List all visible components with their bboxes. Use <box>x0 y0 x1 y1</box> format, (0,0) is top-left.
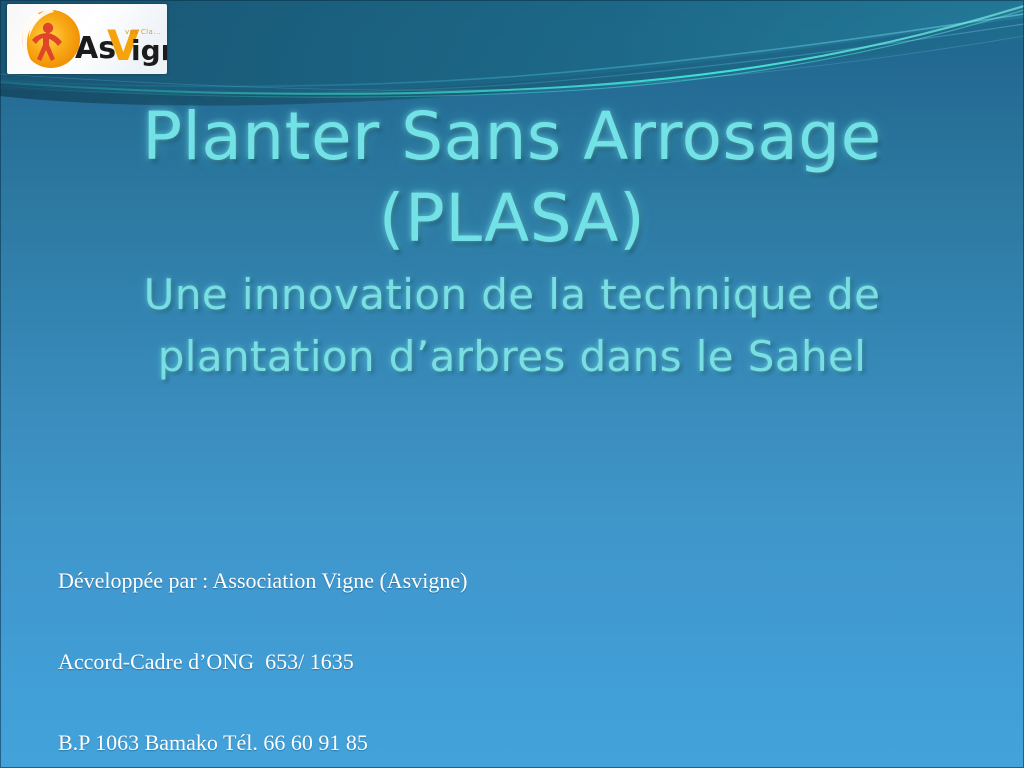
title-line-2: (PLASA) <box>62 178 962 260</box>
slide-title-block: Planter Sans Arrosage (PLASA) Une innova… <box>62 96 962 384</box>
svg-text:vos Cla...: vos Cla... <box>125 28 161 36</box>
credits-block: Développée par : Association Vigne (Asvi… <box>58 513 467 768</box>
asvigne-logo-graphic: As V igne vos Cla... <box>7 4 167 74</box>
subtitle-line-1: Une innovation de la technique de <box>62 268 962 322</box>
subtitle-line-2: plantation d’arbres dans le Sahel <box>62 330 962 384</box>
svg-text:igne: igne <box>131 34 167 67</box>
asvigne-logo: As V igne vos Cla... <box>7 4 167 74</box>
credits-address-phone: B.P 1063 Bamako Tél. 66 60 91 85 <box>58 729 467 756</box>
presentation-slide: As V igne vos Cla... Planter Sans Arrosa… <box>0 0 1024 768</box>
credits-developed-by: Développée par : Association Vigne (Asvi… <box>58 567 467 594</box>
credits-accord-cadre: Accord-Cadre d’ONG 653/ 1635 <box>58 648 467 675</box>
title-line-1: Planter Sans Arrosage <box>62 96 962 178</box>
